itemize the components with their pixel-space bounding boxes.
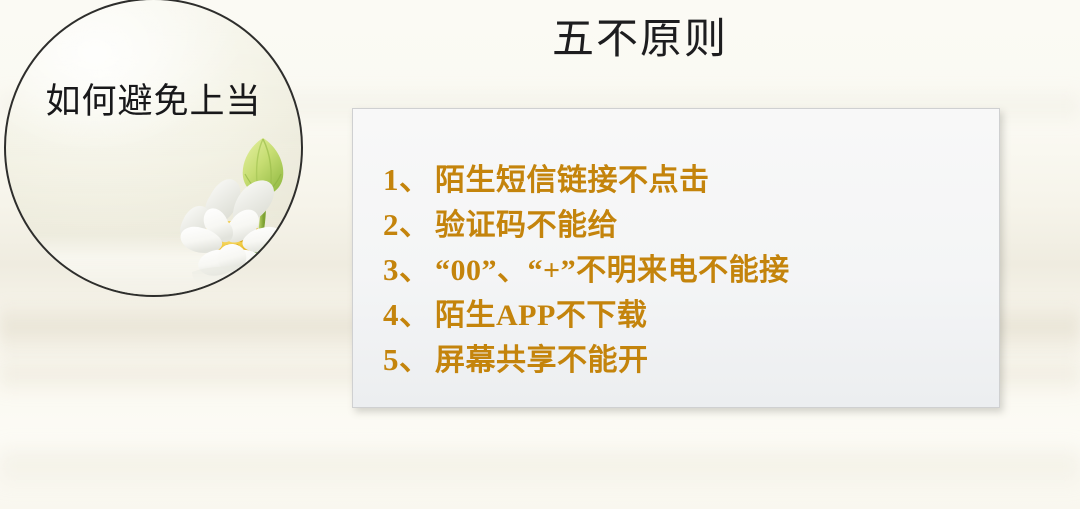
list-item-number: 2、 xyxy=(383,202,435,247)
list-item: 1、 陌生短信链接不点击 xyxy=(383,157,985,202)
list-item-number: 1、 xyxy=(383,157,435,202)
list-item: 4、 陌生APP不下载 xyxy=(383,292,985,337)
page-title: 五不原则 xyxy=(340,16,940,62)
list-item: 2、 验证码不能给 xyxy=(383,202,985,247)
circular-badge: 如何避免上当 xyxy=(4,0,303,297)
list-item: 3、 “00”、“+”不明来电不能接 xyxy=(383,247,985,292)
list-item-number: 3、 xyxy=(383,247,435,292)
rules-panel: 1、 陌生短信链接不点击 2、 验证码不能给 3、 “00”、“+”不明来电不能… xyxy=(352,108,1000,408)
list-item-text: 陌生APP不下载 xyxy=(435,293,647,338)
rules-list: 1、 陌生短信链接不点击 2、 验证码不能给 3、 “00”、“+”不明来电不能… xyxy=(383,157,985,382)
list-item-number: 4、 xyxy=(383,292,435,337)
background-band xyxy=(0,440,1080,490)
list-item: 5、 屏幕共享不能开 xyxy=(383,337,985,382)
flower-reflection xyxy=(192,266,280,292)
list-item-text: 验证码不能给 xyxy=(435,203,618,248)
list-item-text: “00”、“+”不明来电不能接 xyxy=(435,248,790,293)
badge-label: 如何避免上当 xyxy=(6,84,301,119)
lotus-flower-icon xyxy=(124,132,303,297)
list-item-text: 屏幕共享不能开 xyxy=(435,338,649,383)
list-item-text: 陌生短信链接不点击 xyxy=(435,158,710,203)
slide-canvas: 如何避免上当 五不原则 1、 陌生短信链接不点击 2、 验证码不能给 3、 “0… xyxy=(0,0,1080,509)
list-item-number: 5、 xyxy=(383,337,435,382)
